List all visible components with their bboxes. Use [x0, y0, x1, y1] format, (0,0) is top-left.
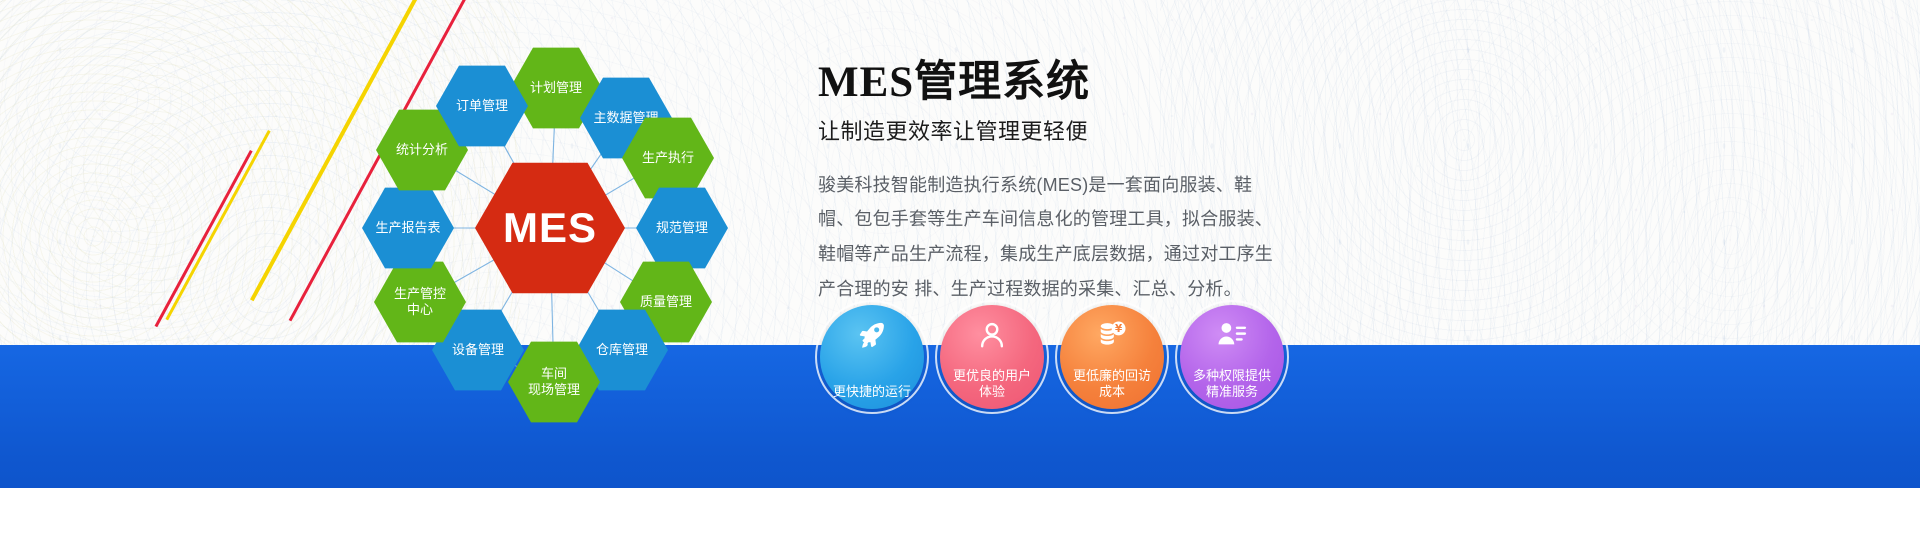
- mes-hex-diagram: MES 计划管理 主数据管理 生产执行 规范管理 质量管理 仓库管理 车间 现场…: [330, 20, 770, 440]
- svg-text:¥: ¥: [1115, 323, 1123, 335]
- feature-badges: 更快捷的运行 更优良的用户 体验 ¥: [820, 305, 1284, 409]
- bottom-white-strip: [0, 488, 1920, 550]
- badge-better-user-experience[interactable]: 更优良的用户 体验: [940, 305, 1044, 409]
- badge-lower-revisit-cost[interactable]: ¥ 更低廉的回访 成本: [1060, 305, 1164, 409]
- description-paragraph: 骏美科技智能制造执行系统(MES)是一套面向服装、鞋帽、包包手套等生产车间信息化…: [818, 168, 1278, 306]
- badge-label: 更低廉的回访 成本: [1067, 368, 1157, 400]
- badge-label: 更快捷的运行: [827, 384, 917, 400]
- mes-promo-banner: MES 计划管理 主数据管理 生产执行 规范管理 质量管理 仓库管理 车间 现场…: [0, 0, 1920, 550]
- badge-label: 更优良的用户 体验: [947, 368, 1037, 400]
- badge-faster-operation[interactable]: 更快捷的运行: [820, 305, 924, 409]
- badge-multi-permission[interactable]: 多种权限提供 精准服务: [1180, 305, 1284, 409]
- page-subtitle: 让制造更效率让管理更轻便: [818, 114, 1718, 146]
- banner-content: MES管理系统 让制造更效率让管理更轻便 骏美科技智能制造执行系统(MES)是一…: [818, 58, 1718, 306]
- rocket-icon: [855, 318, 889, 352]
- badge-label: 多种权限提供 精准服务: [1187, 368, 1277, 400]
- page-title: MES管理系统: [818, 58, 1718, 108]
- user-list-icon: [1215, 318, 1249, 352]
- money-coins-icon: ¥: [1095, 318, 1129, 352]
- user-icon: [975, 318, 1009, 352]
